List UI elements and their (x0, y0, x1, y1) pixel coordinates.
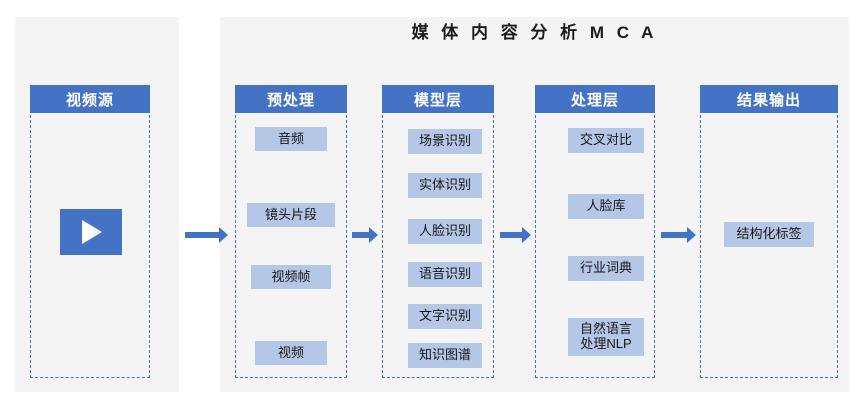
chip-shot-segment[interactable]: 镜头片段 (247, 203, 335, 227)
arrow-head-icon (687, 227, 696, 243)
chip-natural-language-nlp[interactable]: 自然语言 处理NLP (568, 318, 644, 356)
play-icon[interactable] (60, 209, 122, 255)
arrow-shaft (661, 232, 688, 238)
column-header-result-output: 结果输出 (700, 85, 838, 113)
chip-speech-recognition[interactable]: 语音识别 (408, 262, 482, 287)
column-header-preprocess: 预处理 (235, 85, 347, 113)
chip-face-database[interactable]: 人脸库 (568, 194, 644, 219)
chip-audio[interactable]: 音频 (255, 127, 327, 151)
chip-video-frame[interactable]: 视频帧 (251, 265, 331, 289)
chip-face-recognition[interactable]: 人脸识别 (408, 219, 482, 244)
page-title: 媒 体 内 容 分 析 M C A (220, 18, 849, 43)
arrow-preprocess-to-model (352, 227, 379, 243)
arrow-process-to-output (661, 227, 697, 243)
diagram-canvas: 媒 体 内 容 分 析 M C A 视频源 预处理 音频 镜头片段 视频帧 视频… (0, 0, 859, 411)
play-triangle-icon (82, 220, 102, 244)
arrow-model-to-process (500, 227, 532, 243)
chip-text-recognition[interactable]: 文字识别 (408, 304, 482, 329)
arrow-head-icon (219, 227, 228, 243)
column-header-model-layer: 模型层 (382, 85, 494, 113)
chip-industry-lexicon[interactable]: 行业词典 (568, 256, 644, 281)
arrow-head-icon (369, 227, 378, 243)
chip-entity-recognition[interactable]: 实体识别 (408, 173, 482, 198)
arrow-shaft (185, 232, 220, 238)
arrow-head-icon (522, 227, 531, 243)
chip-structured-tags[interactable]: 结构化标签 (724, 222, 814, 247)
arrow-shaft (352, 232, 370, 238)
chip-knowledge-graph[interactable]: 知识图谱 (408, 343, 482, 368)
arrow-shaft (500, 232, 523, 238)
column-header-processing-layer: 处理层 (535, 85, 655, 113)
chip-video[interactable]: 视频 (255, 341, 327, 365)
chip-scene-recognition[interactable]: 场景识别 (408, 129, 482, 154)
column-header-video-source: 视频源 (30, 85, 150, 113)
arrow-source-to-preprocess (185, 227, 229, 243)
chip-cross-comparison[interactable]: 交叉对比 (568, 128, 644, 153)
